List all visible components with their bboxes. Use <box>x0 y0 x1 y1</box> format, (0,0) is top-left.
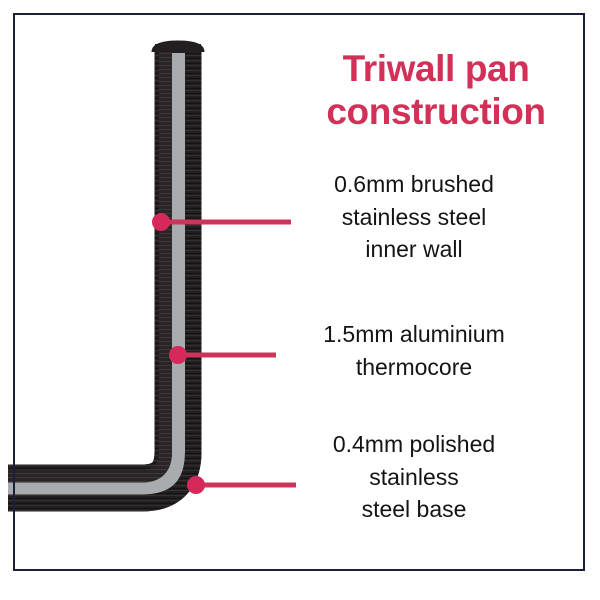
leader-dot-steel-base <box>187 476 205 494</box>
layer-outer-steel-texture <box>8 48 178 488</box>
pan-wall-layers <box>8 44 201 500</box>
leader-dot-thermocore <box>169 346 187 364</box>
callout-label-thermocore-line-2: thermocore <box>284 351 544 384</box>
callout-label-steel-base-line-1: 0.4mm polished <box>288 428 540 461</box>
callout-label-thermocore-line-1: 1.5mm aluminium <box>284 318 544 351</box>
callout-label-inner-wall-line-3: inner wall <box>288 233 540 266</box>
callout-label-inner-wall-line-1: 0.6mm brushed <box>288 168 540 201</box>
figure-title-line-2: construction <box>290 91 582 134</box>
layer-inner-steel <box>8 50 166 476</box>
callout-label-steel-base-line-3: steel base <box>288 493 540 526</box>
callout-label-steel-base-line-2: stainless <box>288 461 540 494</box>
callout-label-inner-wall: 0.6mm brushed stainless steel inner wall <box>288 168 540 266</box>
callout-label-inner-wall-line-2: stainless steel <box>288 201 540 234</box>
layer-inner-steel-texture <box>8 50 166 476</box>
figure-title: Triwall pan construction <box>290 48 582 133</box>
wall-rim-round <box>155 44 201 52</box>
figure-canvas: Triwall pan construction 0.6mm brushed s… <box>0 0 600 600</box>
callout-label-steel-base: 0.4mm polished stainless steel base <box>288 428 540 526</box>
layer-outer-steel <box>8 48 178 488</box>
figure-title-line-1: Triwall pan <box>290 48 582 91</box>
layer-aluminium-core <box>8 50 178 488</box>
outer-steel-shell <box>14 46 245 500</box>
callout-label-thermocore: 1.5mm aluminium thermocore <box>284 318 544 383</box>
leader-dot-inner-wall <box>152 213 170 231</box>
